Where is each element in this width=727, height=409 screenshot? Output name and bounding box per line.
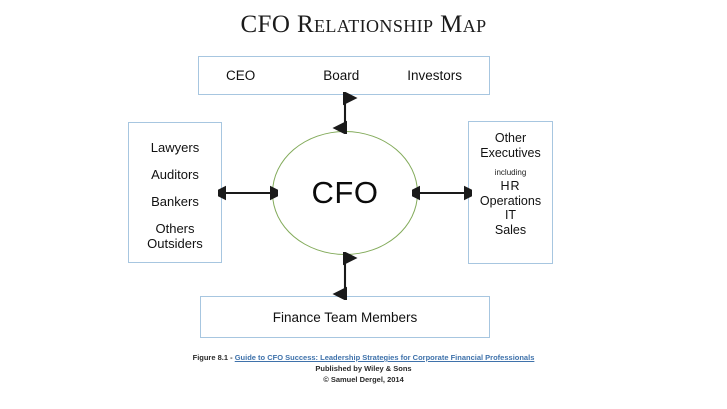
stakeholder-ceo: CEO [226,68,255,83]
caption-line-publisher: Published by Wiley & Sons [0,364,727,375]
stakeholder-box-bottom: Finance Team Members [200,296,490,338]
stakeholder-box-top: CEO Board Investors [198,56,490,95]
stakeholder-lawyers: Lawyers [151,140,199,155]
stakeholder-investors: Investors [407,68,462,83]
including-label: including [495,168,527,178]
caption-figure-number: Figure 8.1 - [193,353,235,362]
arrow-bottom-double-headed [330,252,360,300]
arrow-top-double-headed [330,92,360,134]
caption-book-link[interactable]: Guide to CFO Success: Leadership Strateg… [235,353,535,362]
page-title: CFO Relationship Map [0,10,727,40]
stakeholder-finance-team-members: Finance Team Members [273,310,418,325]
stakeholder-auditors: Auditors [151,167,199,182]
stakeholder-others: Others [155,221,194,236]
stakeholder-bankers: Bankers [151,194,199,209]
arrow-left-double-headed [218,178,278,208]
stakeholder-sales: Sales [495,223,526,238]
page-title-lead: CFO [240,11,290,38]
caption-line-figure-source: Figure 8.1 - Guide to CFO Success: Leade… [0,353,727,364]
arrow-right-double-headed [412,178,472,208]
stakeholder-box-right: Other Executives including HR Operations… [468,121,553,264]
page-title-rest: Relationship Map [290,11,486,38]
stakeholder-outsiders: Outsiders [147,236,203,251]
stakeholder-operations: Operations [480,194,541,209]
stakeholder-it: IT [505,208,516,223]
cfo-relationship-map-diagram: CFO Relationship Map CEO Board Investors… [0,0,727,409]
stakeholder-hr: HR [500,179,520,194]
stakeholder-other-executives-line1: Other [495,131,526,146]
cfo-center-node: CFO [272,131,418,255]
caption-line-copyright: © Samuel Dergel, 2014 [0,375,727,386]
stakeholder-other-executives-line2: Executives [480,146,540,161]
stakeholder-board: Board [323,68,359,83]
cfo-center-label: CFO [272,131,418,255]
stakeholder-box-left: Lawyers Auditors Bankers Others Outsider… [128,122,222,263]
